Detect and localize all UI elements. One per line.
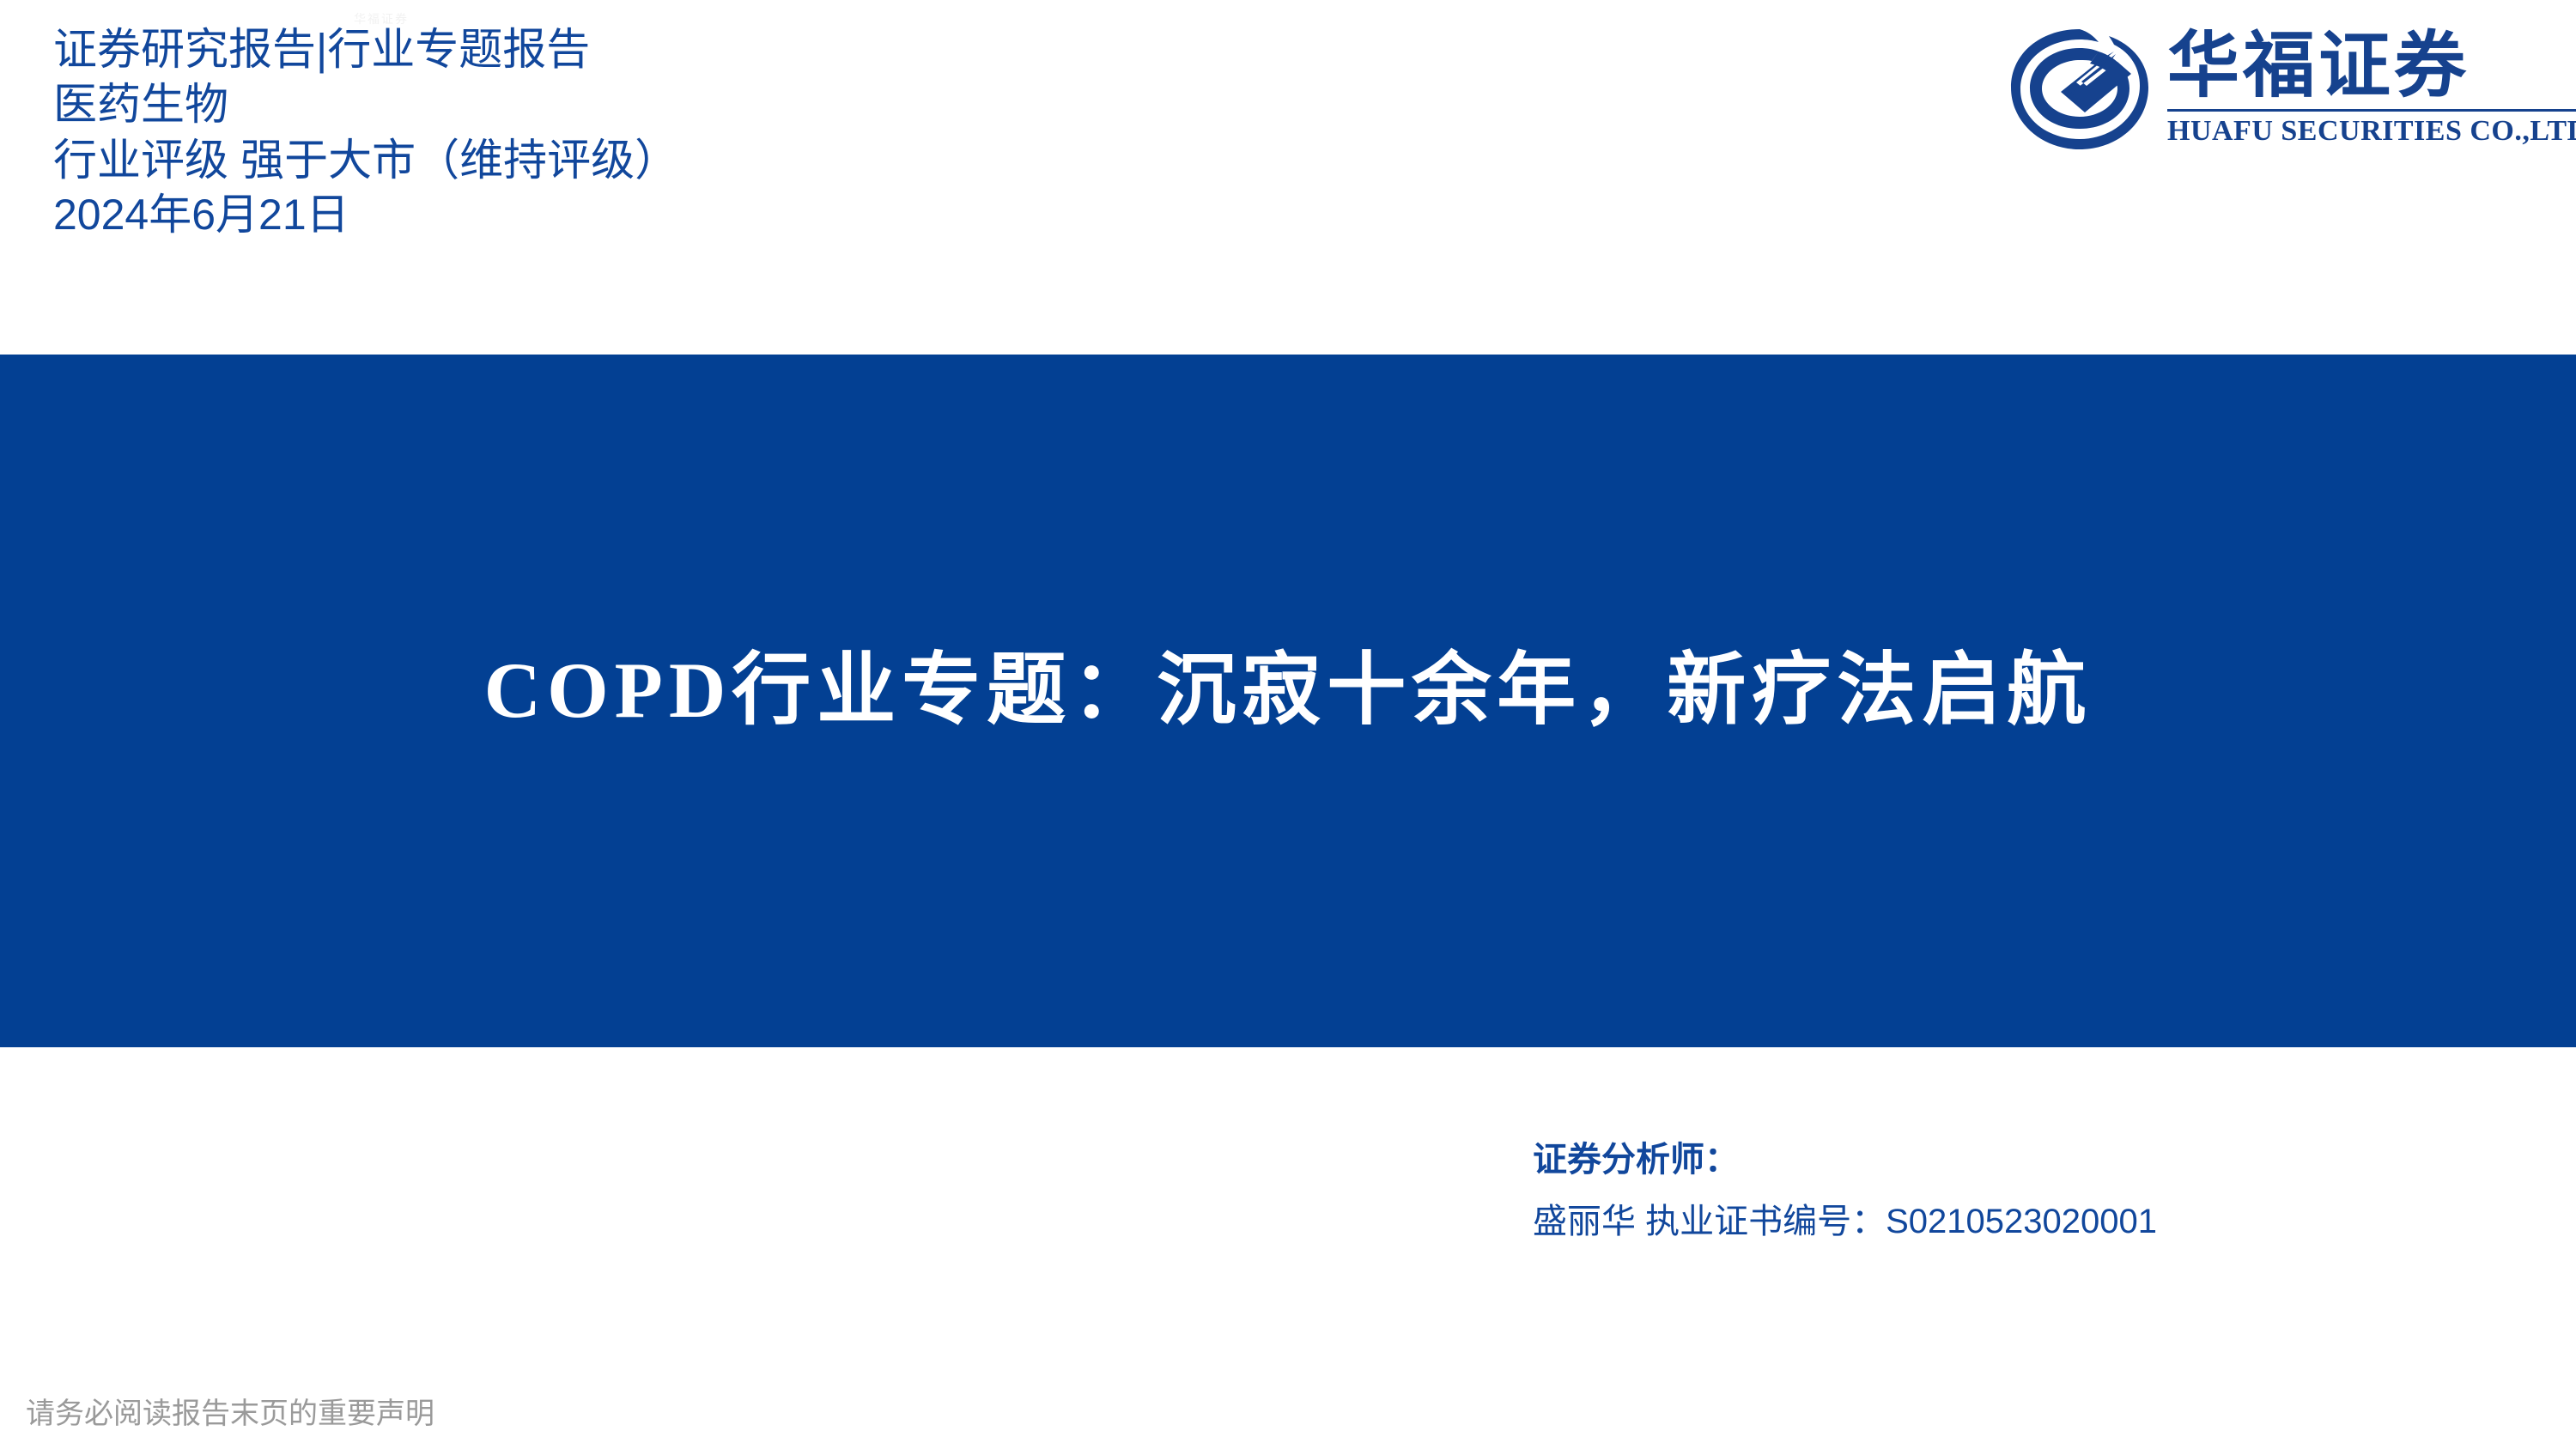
analyst-detail: 盛丽华 执业证书编号：S0210523020001 (1533, 1197, 2157, 1246)
analyst-heading: 证券分析师： (1533, 1135, 2157, 1185)
logo-english-name: HUAFU SECURITIES CO.,LTD. (2167, 116, 2576, 147)
industry-name-line: 医药生物 (53, 77, 678, 132)
report-meta-block: 证券研究报告|行业专题报告 医药生物 行业评级 强于大市（维持评级） 2024年… (53, 22, 678, 242)
report-date-line: 2024年6月21日 (53, 188, 678, 242)
title-banner: COPD行业专题：沉寂十余年，新疗法启航 (0, 355, 2576, 1047)
logo-chinese-name: 华福证券 (2167, 31, 2576, 103)
industry-rating-line: 行业评级 强于大市（维持评级） (53, 133, 678, 188)
logo-divider (2167, 109, 2576, 112)
logo-wordmark: 华福证券 HUAFU SECURITIES CO.,LTD. (2167, 26, 2576, 147)
report-type-line: 证券研究报告|行业专题报告 (53, 22, 678, 77)
analyst-block: 证券分析师： 盛丽华 执业证书编号：S0210523020001 (1533, 1135, 2157, 1246)
footer-disclaimer: 请务必阅读报告末页的重要声明 (26, 1390, 434, 1432)
cover-header: 华福证券 证券研究报告|行业专题报告 医药生物 行业评级 强于大市（维持评级） … (0, 0, 2576, 355)
huafu-spiral-icon (2008, 26, 2152, 153)
page-title: COPD行业专题：沉寂十余年，新疗法启航 (0, 646, 2576, 737)
brand-logo: 华福证券 HUAFU SECURITIES CO.,LTD. (2008, 26, 2540, 155)
